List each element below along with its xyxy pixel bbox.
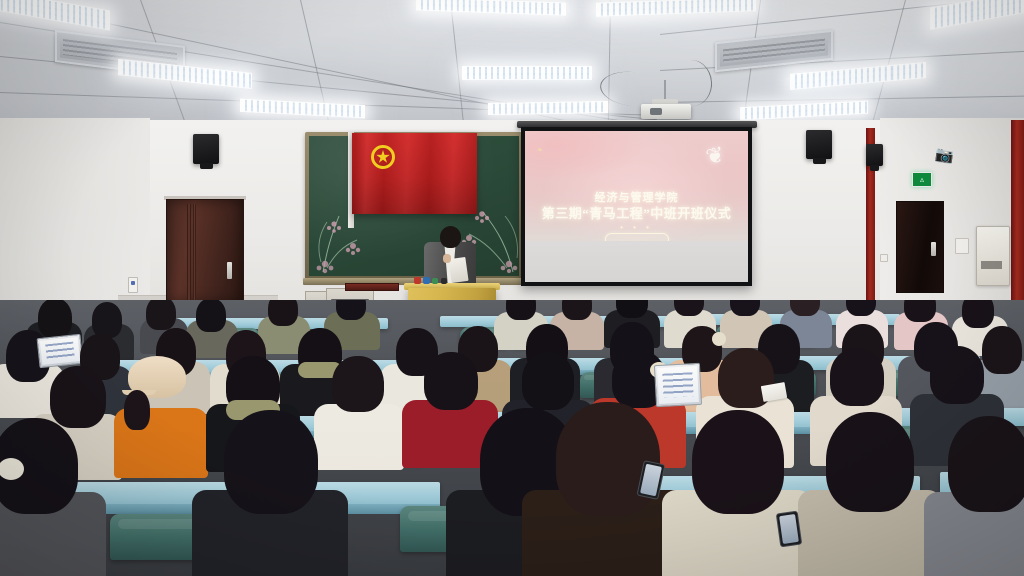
av-control-panel[interactable] [976, 226, 1010, 286]
student-hair [38, 300, 72, 338]
student-hair [506, 300, 536, 320]
presenter-hand [443, 254, 451, 263]
podium-marker-blue [423, 277, 430, 284]
presentation-slide: ❧ ❦ 经济与管理学院 第三期“青马工程”中班开班仪式 • • • [525, 131, 748, 241]
laptop-screen [657, 366, 699, 404]
classroom-photo: ❧ ❦ 经济与管理学院 第三期“青马工程”中班开班仪式 • • • 📷 ▵ [0, 0, 1024, 576]
door-trim-strip [187, 204, 191, 300]
student-hair [146, 300, 176, 330]
wall-pillar [1011, 120, 1024, 318]
laptop[interactable] [37, 334, 84, 368]
student-hair [332, 356, 384, 412]
slide-event-line: 第三期“青马工程”中班开班仪式 [525, 203, 748, 222]
youth-league-flag [352, 133, 477, 214]
student-hair [826, 412, 914, 512]
dove-icon: ❦ [703, 141, 726, 170]
projector [641, 104, 691, 119]
student-hair [692, 410, 784, 514]
podium-marker-green [432, 278, 438, 284]
student-hair [830, 348, 884, 406]
projection-screen-frame: ❧ ❦ 经济与管理学院 第三期“青马工程”中班开班仪式 • • • [521, 127, 752, 286]
laptop-screen [40, 337, 80, 365]
front-wall-banner [345, 283, 399, 291]
projection-screen-surface: ❧ ❦ 经济与管理学院 第三期“青马工程”中班开班仪式 • • • [525, 131, 748, 282]
student-hair [224, 410, 318, 514]
student-hair [424, 352, 478, 410]
podium-marker-red [414, 277, 421, 284]
student-torso [314, 404, 404, 470]
presenter-head [440, 226, 461, 248]
wall-speaker [866, 144, 883, 166]
student-hair [50, 366, 106, 428]
laptop[interactable] [654, 363, 702, 407]
podium-marker-dark [441, 278, 447, 284]
student-hair-bun [712, 332, 726, 346]
door-handle[interactable] [931, 242, 936, 256]
student-hair [904, 300, 936, 322]
laptop-screen-content [662, 372, 694, 398]
wall-speaker [806, 130, 832, 159]
screen-blank-area [525, 241, 748, 282]
slide-glow [525, 131, 648, 181]
right-door[interactable] [896, 201, 944, 293]
student-hair [268, 300, 298, 326]
ceiling-light-panel [462, 66, 592, 80]
ceiling-light-panel [488, 101, 608, 115]
student-hair [124, 390, 150, 430]
light-switch-panel[interactable] [128, 277, 138, 293]
slide-logo-icon: ❧ [537, 147, 543, 154]
slide-dots: • • • [525, 223, 748, 232]
wall-outlet-box [880, 254, 888, 262]
presenter-papers [448, 257, 468, 283]
smartphone[interactable] [776, 511, 803, 548]
student-hair [962, 300, 994, 328]
student-hair [948, 416, 1024, 512]
student-hair [92, 302, 122, 338]
student-hair [930, 346, 984, 404]
student-hair [336, 300, 366, 320]
cctv-camera-icon: 📷 [934, 147, 955, 164]
student-hair [616, 300, 648, 318]
student-hair [556, 402, 660, 516]
student-hair [196, 300, 226, 332]
left-door[interactable] [166, 199, 244, 304]
door-handle[interactable] [227, 262, 232, 279]
audience-seating-area [0, 300, 1024, 576]
student-hair [982, 326, 1022, 374]
ceiling [0, 0, 1024, 136]
exit-sign: ▵ [912, 172, 932, 187]
wall-speaker [193, 134, 219, 164]
student-hair [562, 300, 592, 320]
student-hair [522, 352, 574, 410]
wall-outlet-box [955, 238, 969, 254]
laptop-screen-content [45, 341, 75, 360]
door-trim-strip [193, 204, 196, 300]
